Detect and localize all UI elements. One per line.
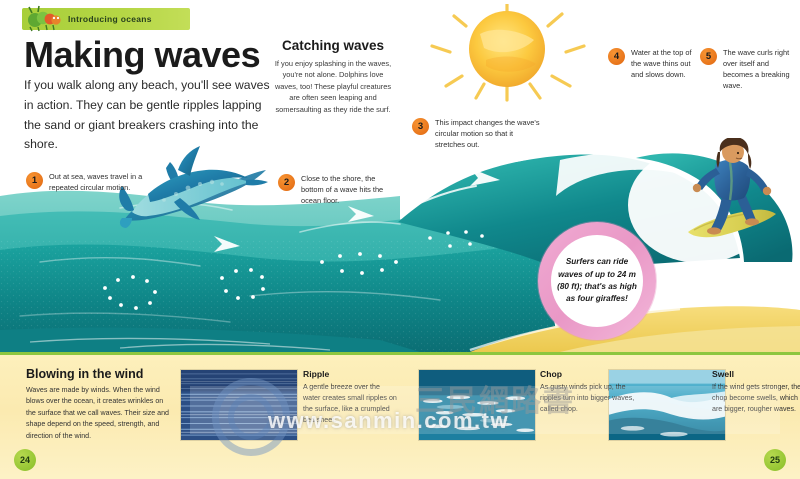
- step-number-2: 2: [278, 174, 295, 191]
- surfer-illustration: [686, 138, 782, 248]
- step-callout-1: 1 Out at sea, waves travel in a repeated…: [26, 172, 144, 194]
- step-number-5: 5: [700, 48, 717, 65]
- term-ripple: Ripple A gentle breeze over the water cr…: [303, 369, 399, 426]
- step-callout-4: 4 Water at the top of the wave thins out…: [608, 48, 700, 81]
- sun-illustration: [424, 4, 590, 102]
- step-text-3: This impact changes the wave's circular …: [435, 118, 542, 151]
- chop-photo: [418, 369, 536, 441]
- fact-bubble-inner: Surfers can ride waves of up to 24 m (80…: [551, 235, 643, 327]
- term-chop-text: As gusty winds pick up, the ripples turn…: [540, 382, 636, 415]
- step-text-1: Out at sea, waves travel in a repeated c…: [49, 172, 144, 194]
- page-number-left: 24: [14, 449, 36, 471]
- term-ripple-title: Ripple: [303, 369, 399, 379]
- step-callout-2: 2 Close to the shore, the bottom of a wa…: [278, 174, 398, 207]
- intro-paragraph: If you walk along any beach, you'll see …: [24, 76, 274, 155]
- step-text-4: Water at the top of the wave thins out a…: [631, 48, 700, 81]
- page-number-right: 25: [764, 449, 786, 471]
- fact-bubble: Surfers can ride waves of up to 24 m (80…: [538, 222, 656, 340]
- term-chop: Chop As gusty winds pick up, the ripples…: [540, 369, 636, 415]
- step-number-3: 3: [412, 118, 429, 135]
- page-title: Making waves: [24, 34, 260, 76]
- step-text-5: The wave curls right over itself and bec…: [723, 48, 792, 92]
- catching-waves-heading: Catching waves: [272, 38, 394, 53]
- step-callout-5: 5 The wave curls right over itself and b…: [700, 48, 792, 92]
- ripple-photo: [180, 369, 298, 441]
- term-swell-title: Swell: [712, 369, 800, 379]
- bottom-panel: Blowing in the wind Waves are made by wi…: [0, 352, 800, 479]
- bottom-panel-body: Waves are made by winds. When the wind b…: [26, 385, 174, 442]
- term-ripple-text: A gentle breeze over the water creates s…: [303, 382, 399, 426]
- step-number-1: 1: [26, 172, 43, 189]
- catching-waves-section: Catching waves If you enjoy splashing in…: [272, 38, 394, 115]
- book-spread: Introducing oceans Making waves If you w…: [0, 0, 800, 479]
- step-text-2: Close to the shore, the bottom of a wave…: [301, 174, 398, 207]
- term-chop-title: Chop: [540, 369, 636, 379]
- term-swell-text: If the wind gets stronger, the chop beco…: [712, 382, 800, 415]
- step-number-4: 4: [608, 48, 625, 65]
- bottom-panel-heading: Blowing in the wind: [26, 367, 143, 381]
- chapter-tag-label: Introducing oceans: [68, 14, 152, 24]
- term-swell: Swell If the wind gets stronger, the cho…: [712, 369, 800, 415]
- step-callout-3: 3 This impact changes the wave's circula…: [412, 118, 542, 151]
- fact-bubble-text: Surfers can ride waves of up to 24 m (80…: [551, 256, 643, 305]
- caterpillar-logo-icon: [26, 4, 68, 32]
- catching-waves-body: If you enjoy splashing in the waves, you…: [272, 58, 394, 115]
